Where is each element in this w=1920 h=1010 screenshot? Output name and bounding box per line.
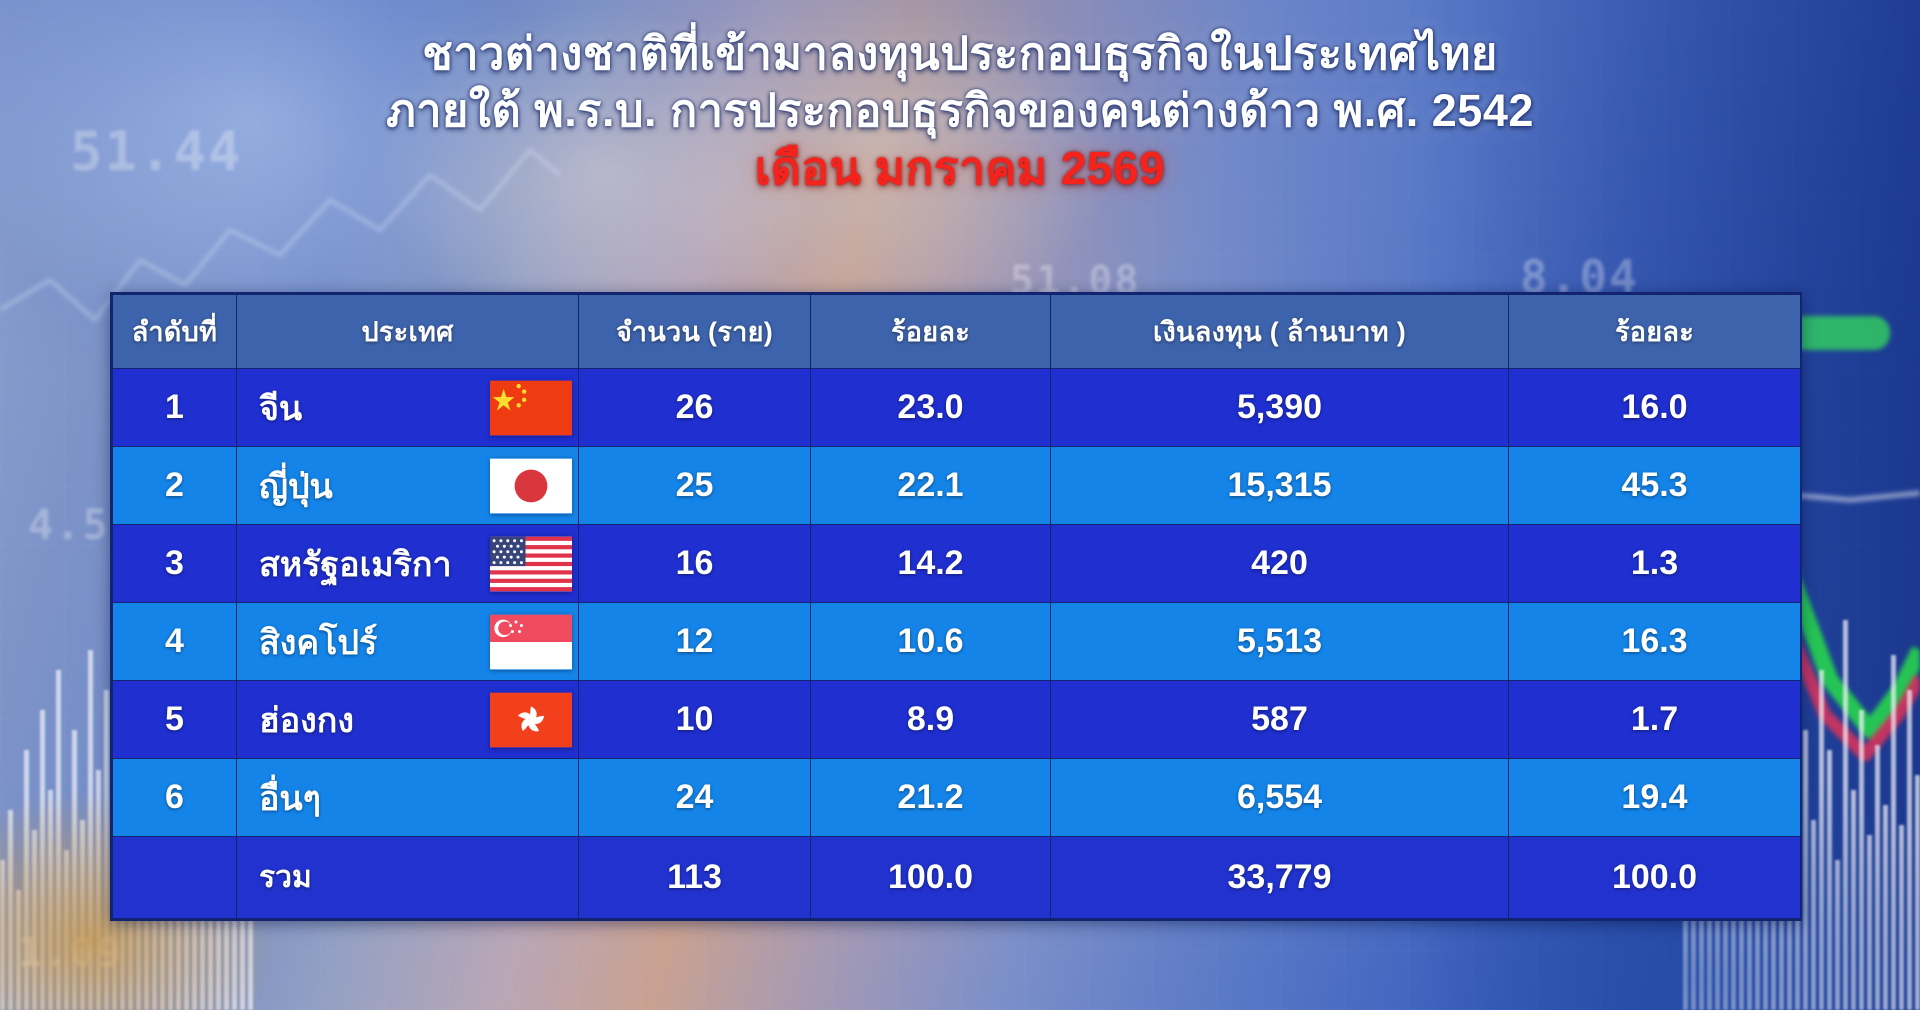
cell-count: 24 [579, 759, 811, 837]
country-label: ฮ่องกง [259, 693, 354, 747]
table-row: 5 ฮ่องกง [113, 681, 1801, 759]
header-amount: เงินลงทุน ( ล้านบาท ) [1051, 295, 1509, 369]
cell-country: จีน [237, 369, 579, 447]
cell-rank: 4 [113, 603, 237, 681]
cell-pct-count: 21.2 [811, 759, 1051, 837]
total-pct-count: 100.0 [811, 837, 1051, 919]
cell-amount: 420 [1051, 525, 1509, 603]
header-rank: ลำดับที่ [113, 295, 237, 369]
title-block: ชาวต่างชาติที่เข้ามาลงทุนประกอบธุรกิจในป… [0, 28, 1920, 195]
total-pct-amount: 100.0 [1509, 837, 1801, 919]
cell-amount: 587 [1051, 681, 1509, 759]
investment-table: ลำดับที่ ประเทศ จำนวน (ราย) ร้อยละ เงินล… [112, 294, 1801, 919]
flag-singapore-icon [490, 614, 572, 670]
total-amount: 33,779 [1051, 837, 1509, 919]
table-total-row: รวม 113 100.0 33,779 100.0 [113, 837, 1801, 919]
cell-pct-amount: 1.7 [1509, 681, 1801, 759]
country-label: ญี่ปุ่น [259, 459, 333, 513]
cell-count: 12 [579, 603, 811, 681]
header-country: ประเทศ [237, 295, 579, 369]
flag-japan-icon [490, 458, 572, 514]
table-header: ลำดับที่ ประเทศ จำนวน (ราย) ร้อยละ เงินล… [113, 295, 1801, 369]
investment-table-container: ลำดับที่ ประเทศ จำนวน (ราย) ร้อยละ เงินล… [110, 292, 1802, 921]
table-row: 1 จีน [113, 369, 1801, 447]
header-pct-count: ร้อยละ [811, 295, 1051, 369]
cell-rank: 2 [113, 447, 237, 525]
cell-count: 25 [579, 447, 811, 525]
cell-country: ญี่ปุ่น [237, 447, 579, 525]
cell-count: 16 [579, 525, 811, 603]
cell-count: 10 [579, 681, 811, 759]
cell-rank: 1 [113, 369, 237, 447]
total-rank-cell [113, 837, 237, 919]
cell-pct-amount: 1.3 [1509, 525, 1801, 603]
cell-amount: 5,390 [1051, 369, 1509, 447]
flag-china-icon [490, 380, 572, 436]
country-label: สหรัฐอเมริกา [259, 537, 452, 591]
cell-country: อื่นๆ [237, 759, 579, 837]
cell-pct-amount: 16.3 [1509, 603, 1801, 681]
title-subtitle-month: เดือน มกราคม 2569 [0, 143, 1920, 195]
title-line-1: ชาวต่างชาติที่เข้ามาลงทุนประกอบธุรกิจในป… [0, 28, 1920, 80]
table-header-row: ลำดับที่ ประเทศ จำนวน (ราย) ร้อยละ เงินล… [113, 295, 1801, 369]
infographic-page: 51.44 51.08 8.04 4.51 1.09 [0, 0, 1920, 1010]
table-body: 1 จีน [113, 369, 1801, 919]
cell-count: 26 [579, 369, 811, 447]
cell-amount: 15,315 [1051, 447, 1509, 525]
cell-amount: 6,554 [1051, 759, 1509, 837]
cell-rank: 6 [113, 759, 237, 837]
country-label: จีน [259, 381, 302, 435]
cell-country: ฮ่องกง [237, 681, 579, 759]
table-row: 6 อื่นๆ 24 21.2 6,554 19.4 [113, 759, 1801, 837]
flag-usa-icon [490, 536, 572, 592]
total-label: รวม [237, 837, 579, 919]
header-count: จำนวน (ราย) [579, 295, 811, 369]
cell-amount: 5,513 [1051, 603, 1509, 681]
table-row: 4 สิงคโปร์ [113, 603, 1801, 681]
flag-hongkong-icon [490, 692, 572, 748]
cell-pct-count: 10.6 [811, 603, 1051, 681]
cell-pct-amount: 45.3 [1509, 447, 1801, 525]
header-pct-amount: ร้อยละ [1509, 295, 1801, 369]
country-label: สิงคโปร์ [259, 615, 377, 669]
cell-rank: 5 [113, 681, 237, 759]
table-row: 3 สหรัฐอเมริกา [113, 525, 1801, 603]
cell-pct-count: 14.2 [811, 525, 1051, 603]
table-row: 2 ญี่ปุ่น 25 22. [113, 447, 1801, 525]
cell-pct-count: 22.1 [811, 447, 1051, 525]
cell-pct-count: 8.9 [811, 681, 1051, 759]
cell-pct-amount: 16.0 [1509, 369, 1801, 447]
total-count: 113 [579, 837, 811, 919]
title-line-2: ภายใต้ พ.ร.บ. การประกอบธุรกิจของคนต่างด้… [0, 85, 1920, 137]
country-label: อื่นๆ [259, 771, 321, 825]
cell-country: สหรัฐอเมริกา [237, 525, 579, 603]
cell-country: สิงคโปร์ [237, 603, 579, 681]
cell-rank: 3 [113, 525, 237, 603]
cell-pct-count: 23.0 [811, 369, 1051, 447]
cell-pct-amount: 19.4 [1509, 759, 1801, 837]
